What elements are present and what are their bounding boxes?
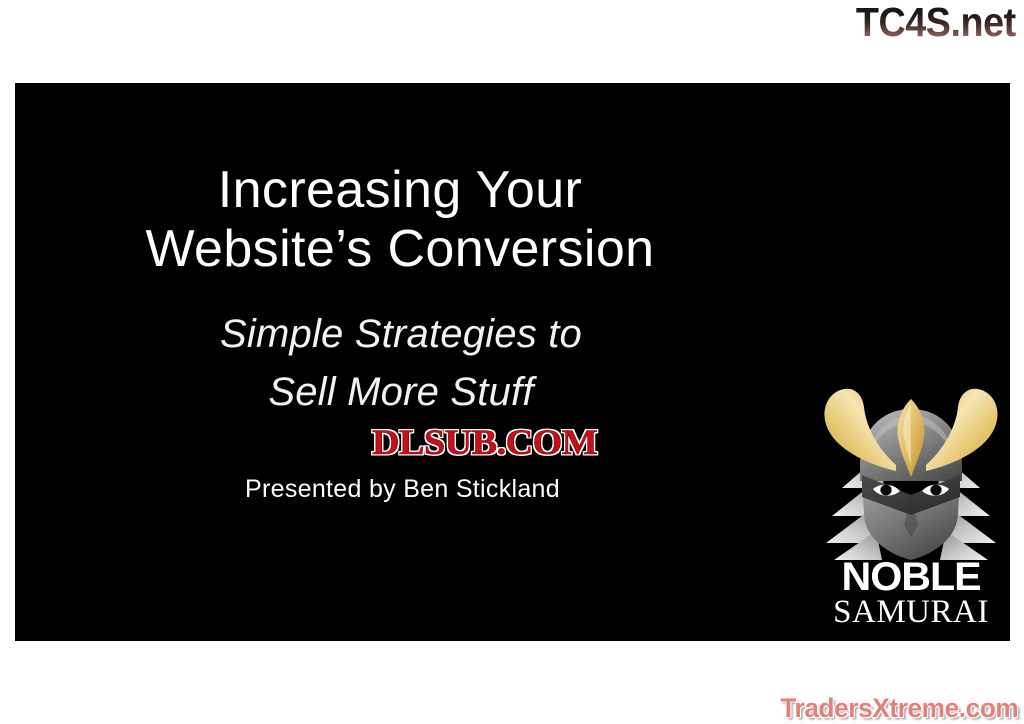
logo-word-noble: NOBLE <box>815 558 1007 596</box>
title-line-2: Website’s Conversion <box>15 220 785 279</box>
subtitle-line-1: Simple Strategies to <box>15 305 787 363</box>
samurai-helmet-icon <box>818 385 1004 560</box>
slide-subtitle: Simple Strategies to Sell More Stuff <box>15 305 787 422</box>
title-line-1: Increasing Your <box>15 161 785 220</box>
slide-page: TC4S.net Increasing Your Website’s Conve… <box>0 0 1024 724</box>
logo-wordmark: NOBLE SAMURAI <box>818 558 1004 630</box>
presenter-credit: Presented by Ben Stickland <box>15 475 790 504</box>
logo-word-samurai: SAMURAI <box>818 596 1004 630</box>
presentation-slide: Increasing Your Website’s Conversion Sim… <box>15 83 1010 641</box>
watermark-bottom: TradersXtreme.com <box>780 695 1018 722</box>
slide-content: Increasing Your Website’s Conversion Sim… <box>15 83 1010 641</box>
noble-samurai-logo: NOBLE SAMURAI <box>818 385 1004 635</box>
subtitle-line-2: Sell More Stuff <box>15 363 787 421</box>
slide-title: Increasing Your Website’s Conversion <box>15 161 785 280</box>
watermark-top: TC4S.net <box>856 2 1016 43</box>
watermark-middle: DLSUB.COM <box>372 424 597 460</box>
